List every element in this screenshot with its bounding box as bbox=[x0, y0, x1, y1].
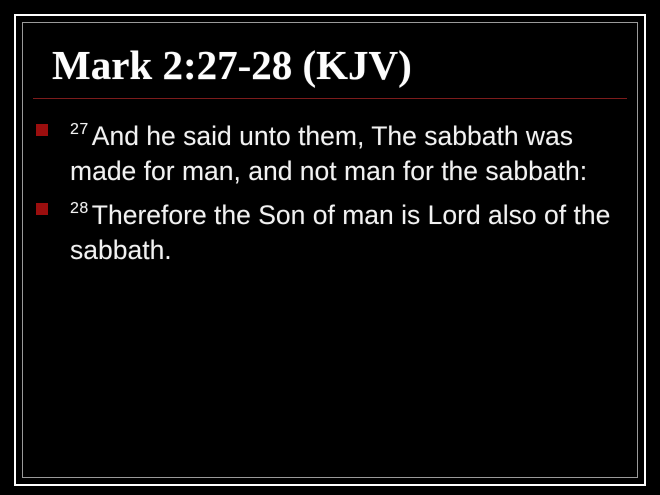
red-square-bullet-icon bbox=[36, 203, 48, 215]
presentation-slide: Mark 2:27-28 (KJV) 27And he said unto th… bbox=[0, 0, 660, 495]
verse-number: 28 bbox=[70, 200, 92, 217]
verse-text: And he said unto them, The sabbath was m… bbox=[70, 121, 587, 186]
list-item: 27And he said unto them, The sabbath was… bbox=[33, 112, 627, 189]
scripture-bullet-list: 27And he said unto them, The sabbath was… bbox=[33, 99, 627, 268]
slide-title: Mark 2:27-28 (KJV) bbox=[33, 30, 627, 88]
slide-content: Mark 2:27-28 (KJV) 27And he said unto th… bbox=[33, 30, 627, 470]
verse-number: 27 bbox=[70, 121, 92, 138]
red-square-bullet-icon bbox=[36, 124, 48, 136]
list-item: 28Therefore the Son of man is Lord also … bbox=[33, 191, 627, 268]
verse-text: Therefore the Son of man is Lord also of… bbox=[70, 200, 610, 265]
